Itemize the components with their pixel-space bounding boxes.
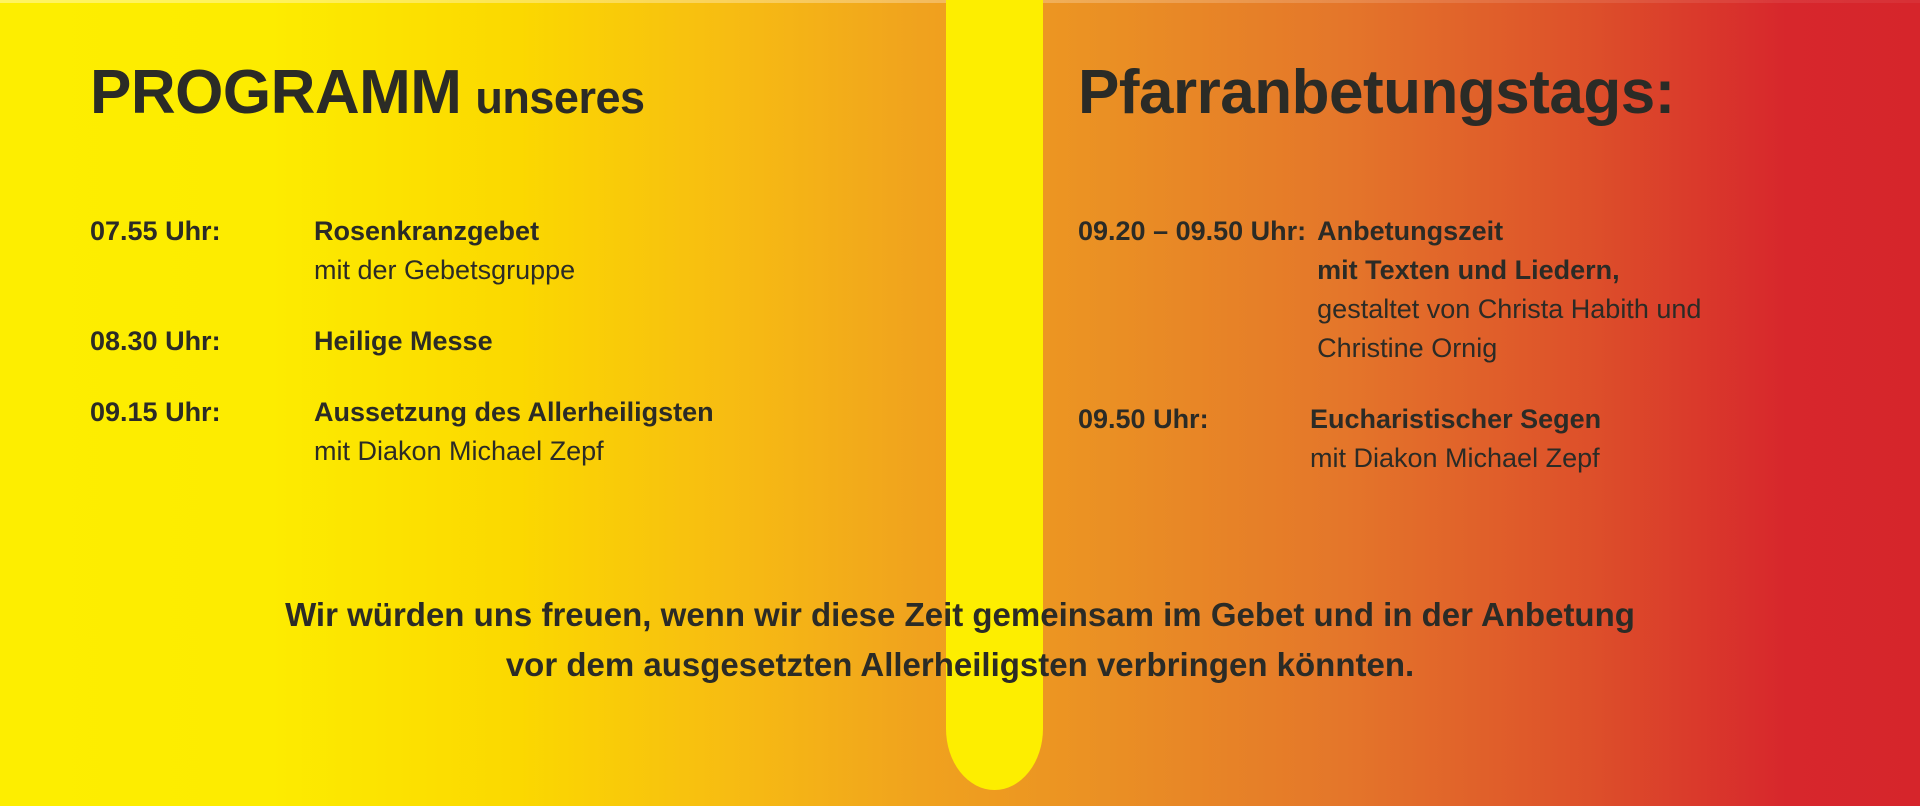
schedule-entry: 09.50 Uhr: Eucharistischer Segen mit Dia… — [1078, 400, 1878, 478]
entry-body: Heilige Messe — [314, 322, 920, 361]
entry-title: Anbetungszeit — [1317, 212, 1878, 251]
entry-time: 09.50 Uhr: — [1078, 400, 1310, 439]
entry-body: Eucharistischer Segen mit Diakon Michael… — [1310, 400, 1878, 478]
schedule-left: 07.55 Uhr: Rosenkranzgebet mit der Gebet… — [90, 212, 920, 471]
entry-title-secondary: mit Texten und Liedern, — [1317, 251, 1878, 290]
page-title-left-sub: unseres — [461, 72, 644, 123]
entry-note: mit Diakon Michael Zepf — [1310, 439, 1878, 478]
entry-time: 07.55 Uhr: — [90, 212, 314, 251]
entry-title: Eucharistischer Segen — [1310, 400, 1878, 439]
entry-title: Rosenkranzgebet — [314, 212, 920, 251]
closing-message-line-1: Wir würden uns freuen, wenn wir diese Ze… — [0, 590, 1920, 640]
closing-message-line-2: vor dem ausgesetzten Allerheiligsten ver… — [0, 640, 1920, 690]
entry-body: Aussetzung des Allerheiligsten mit Diako… — [314, 393, 920, 471]
schedule-entry: 07.55 Uhr: Rosenkranzgebet mit der Gebet… — [90, 212, 920, 290]
entry-note-line: gestaltet von Christa Habith und — [1317, 290, 1878, 329]
entry-note-line: mit Diakon Michael Zepf — [314, 432, 920, 471]
entry-title: Aussetzung des Allerheiligsten — [314, 393, 920, 432]
schedule-entry: 09.20 – 09.50 Uhr: Anbetungszeit mit Tex… — [1078, 212, 1878, 368]
entry-body: Anbetungszeit mit Texten und Liedern, ge… — [1317, 212, 1878, 368]
schedule-right: 09.20 – 09.50 Uhr: Anbetungszeit mit Tex… — [1078, 212, 1878, 478]
page-title-left-main: PROGRAMM — [90, 58, 461, 127]
program-poster: PROGRAMMunseres Pfarranbetungstags: 07.5… — [0, 0, 1920, 806]
entry-note: mit Diakon Michael Zepf — [314, 432, 920, 471]
entry-note: mit der Gebetsgruppe — [314, 251, 920, 290]
entry-time: 09.15 Uhr: — [90, 393, 314, 432]
entry-note: gestaltet von Christa Habith und Christi… — [1317, 290, 1878, 368]
entry-body: Rosenkranzgebet mit der Gebetsgruppe — [314, 212, 920, 290]
entry-note-line: mit der Gebetsgruppe — [314, 251, 920, 290]
schedule-entry: 08.30 Uhr: Heilige Messe — [90, 322, 920, 361]
schedule-entry: 09.15 Uhr: Aussetzung des Allerheiligste… — [90, 393, 920, 471]
page-title-right: Pfarranbetungstags: — [1078, 62, 1675, 124]
entry-note-line: mit Diakon Michael Zepf — [1310, 439, 1878, 478]
entry-title: Heilige Messe — [314, 322, 920, 361]
entry-time: 08.30 Uhr: — [90, 322, 314, 361]
page-title-left: PROGRAMMunseres — [90, 62, 645, 124]
entry-note-line: Christine Ornig — [1317, 329, 1878, 368]
closing-message: Wir würden uns freuen, wenn wir diese Ze… — [0, 590, 1920, 690]
entry-time: 09.20 – 09.50 Uhr: — [1078, 212, 1317, 251]
